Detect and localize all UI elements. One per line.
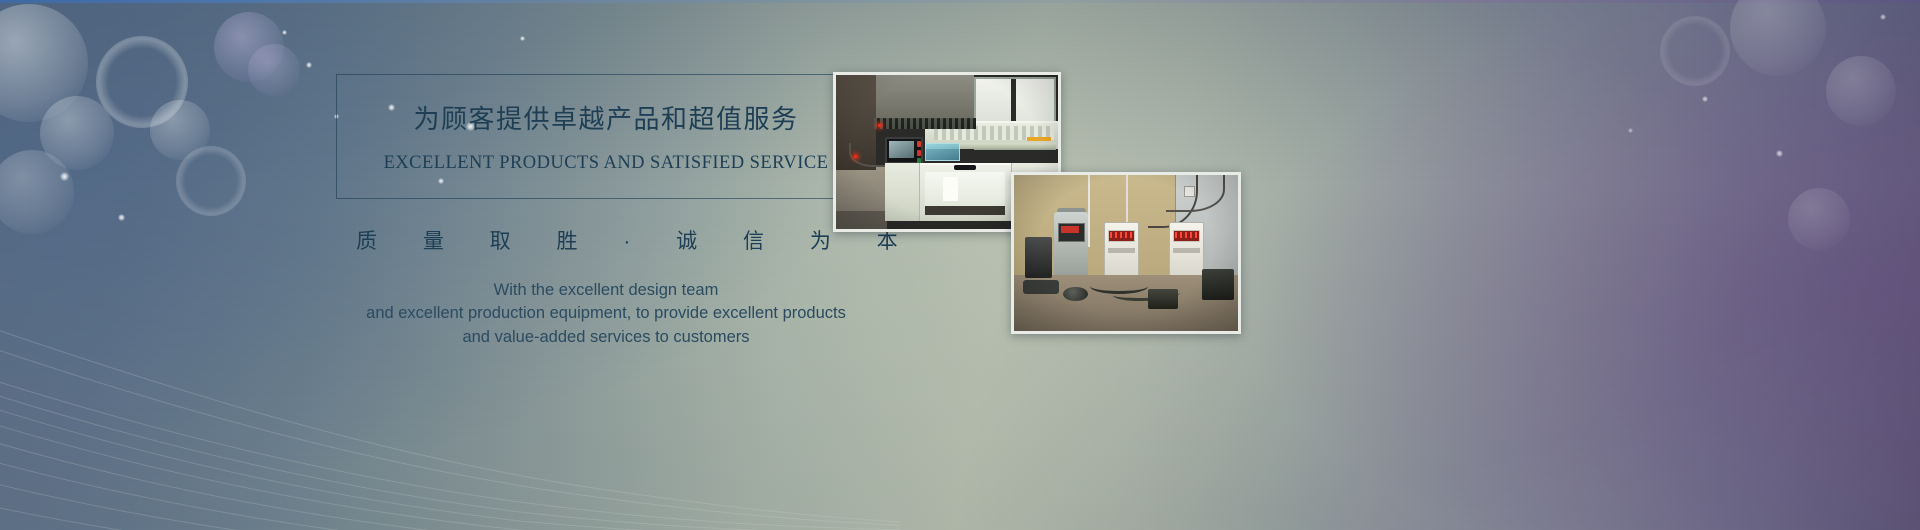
company-quality-banner: 为顾客提供卓越产品和超值服务 EXCELLENT PRODUCTS AND SA…: [0, 0, 1920, 530]
description-line-1: With the excellent design team: [336, 279, 876, 303]
headline-english: EXCELLENT PRODUCTS AND SATISFIED SERVICE: [357, 153, 855, 174]
description-line-3: and value-added services to customers: [336, 326, 876, 350]
top-accent-line: [0, 0, 1920, 3]
slogan-chinese: 质 量 取 胜 · 诚 信 为 本: [336, 225, 876, 255]
laboratory-instruments-photo: [1011, 172, 1241, 334]
description-paragraph: With the excellent design team and excel…: [336, 279, 876, 350]
banner-text-block: 为顾客提供卓越产品和超值服务 EXCELLENT PRODUCTS AND SA…: [336, 74, 876, 349]
description-line-2: and excellent production equipment, to p…: [336, 302, 876, 326]
headline-frame: 为顾客提供卓越产品和超值服务 EXCELLENT PRODUCTS AND SA…: [336, 74, 876, 199]
headline-chinese: 为顾客提供卓越产品和超值服务: [357, 103, 855, 136]
